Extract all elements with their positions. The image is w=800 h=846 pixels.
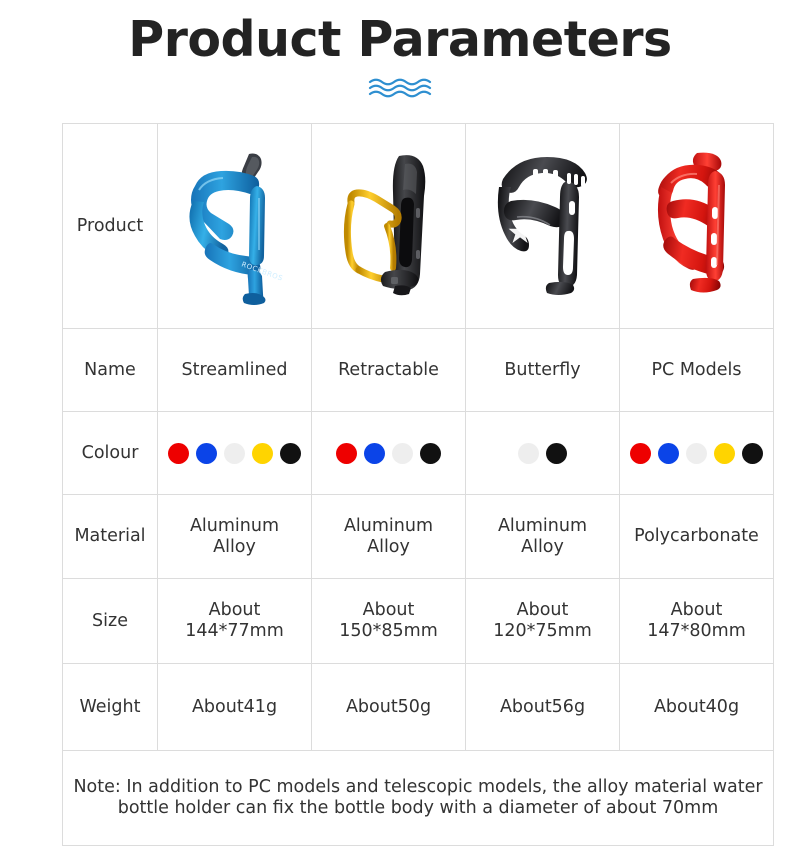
- page-header: Product Parameters: [0, 0, 800, 99]
- weight-value-retractable: About50g: [312, 664, 466, 751]
- material-value-streamlined: Aluminum Alloy: [158, 495, 312, 579]
- row-label-material: Material: [63, 495, 158, 579]
- spec-table-wrapper: Product: [62, 123, 738, 846]
- colour-cell-streamlined: [158, 412, 312, 495]
- row-label-colour: Colour: [63, 412, 158, 495]
- colour-swatch: [714, 443, 735, 464]
- row-label-weight: Weight: [63, 664, 158, 751]
- table-row-material: Material Aluminum Alloy Aluminum Alloy A…: [63, 495, 774, 579]
- note-text: Note: In addition to PC models and teles…: [63, 751, 774, 846]
- colour-swatch: [546, 443, 567, 464]
- blue-spiral-bottle-cage-image: ROCKBROS: [183, 146, 287, 306]
- colour-swatch-group: [161, 443, 308, 464]
- row-label-size: Size: [63, 579, 158, 664]
- size-value-retractable: About 150*85mm: [312, 579, 466, 664]
- size-value-pc-models: About 147*80mm: [620, 579, 774, 664]
- colour-cell-retractable: [312, 412, 466, 495]
- name-value-streamlined: Streamlined: [158, 329, 312, 412]
- colour-swatch: [658, 443, 679, 464]
- name-value-retractable: Retractable: [312, 329, 466, 412]
- black-butterfly-bottle-cage-image: [487, 145, 599, 307]
- colour-swatch: [420, 443, 441, 464]
- table-row-note: Note: In addition to PC models and teles…: [63, 751, 774, 846]
- colour-swatch-group: [315, 443, 462, 464]
- colour-swatch: [280, 443, 301, 464]
- gold-black-retractable-bottle-cage-image: [337, 146, 441, 306]
- wave-divider-icon: [0, 77, 800, 99]
- product-parameters-page: Product Parameters Product: [0, 0, 800, 800]
- product-image-cell-butterfly: [466, 124, 620, 329]
- material-value-pc-models: Polycarbonate: [620, 495, 774, 579]
- colour-swatch: [196, 443, 217, 464]
- colour-swatch: [392, 443, 413, 464]
- weight-value-streamlined: About41g: [158, 664, 312, 751]
- colour-swatch: [630, 443, 651, 464]
- material-value-butterfly: Aluminum Alloy: [466, 495, 620, 579]
- row-label-product: Product: [63, 124, 158, 329]
- colour-cell-pc-models: [620, 412, 774, 495]
- name-value-pc-models: PC Models: [620, 329, 774, 412]
- table-row-size: Size About 144*77mm About 150*85mm About…: [63, 579, 774, 664]
- product-image-cell-pc-models: [620, 124, 774, 329]
- table-row-name: Name Streamlined Retractable Butterfly P…: [63, 329, 774, 412]
- weight-value-butterfly: About56g: [466, 664, 620, 751]
- colour-swatch: [252, 443, 273, 464]
- colour-swatch: [518, 443, 539, 464]
- colour-cell-butterfly: [466, 412, 620, 495]
- name-value-butterfly: Butterfly: [466, 329, 620, 412]
- size-value-butterfly: About 120*75mm: [466, 579, 620, 664]
- table-row-product: Product: [63, 124, 774, 329]
- row-label-name: Name: [63, 329, 158, 412]
- product-parameters-table: Product: [62, 123, 774, 846]
- weight-value-pc-models: About40g: [620, 664, 774, 751]
- page-title: Product Parameters: [0, 14, 800, 65]
- product-image-cell-retractable: [312, 124, 466, 329]
- colour-swatch: [686, 443, 707, 464]
- product-image-cell-streamlined: ROCKBROS: [158, 124, 312, 329]
- colour-swatch: [742, 443, 763, 464]
- colour-swatch: [224, 443, 245, 464]
- table-row-weight: Weight About41g About50g About56g About4…: [63, 664, 774, 751]
- red-polycarbonate-bottle-cage-image: [647, 145, 747, 307]
- colour-swatch: [364, 443, 385, 464]
- colour-swatch-group: [469, 443, 616, 464]
- colour-swatch: [336, 443, 357, 464]
- colour-swatch-group: [623, 443, 770, 464]
- material-value-retractable: Aluminum Alloy: [312, 495, 466, 579]
- size-value-streamlined: About 144*77mm: [158, 579, 312, 664]
- colour-swatch: [168, 443, 189, 464]
- table-row-colour: Colour: [63, 412, 774, 495]
